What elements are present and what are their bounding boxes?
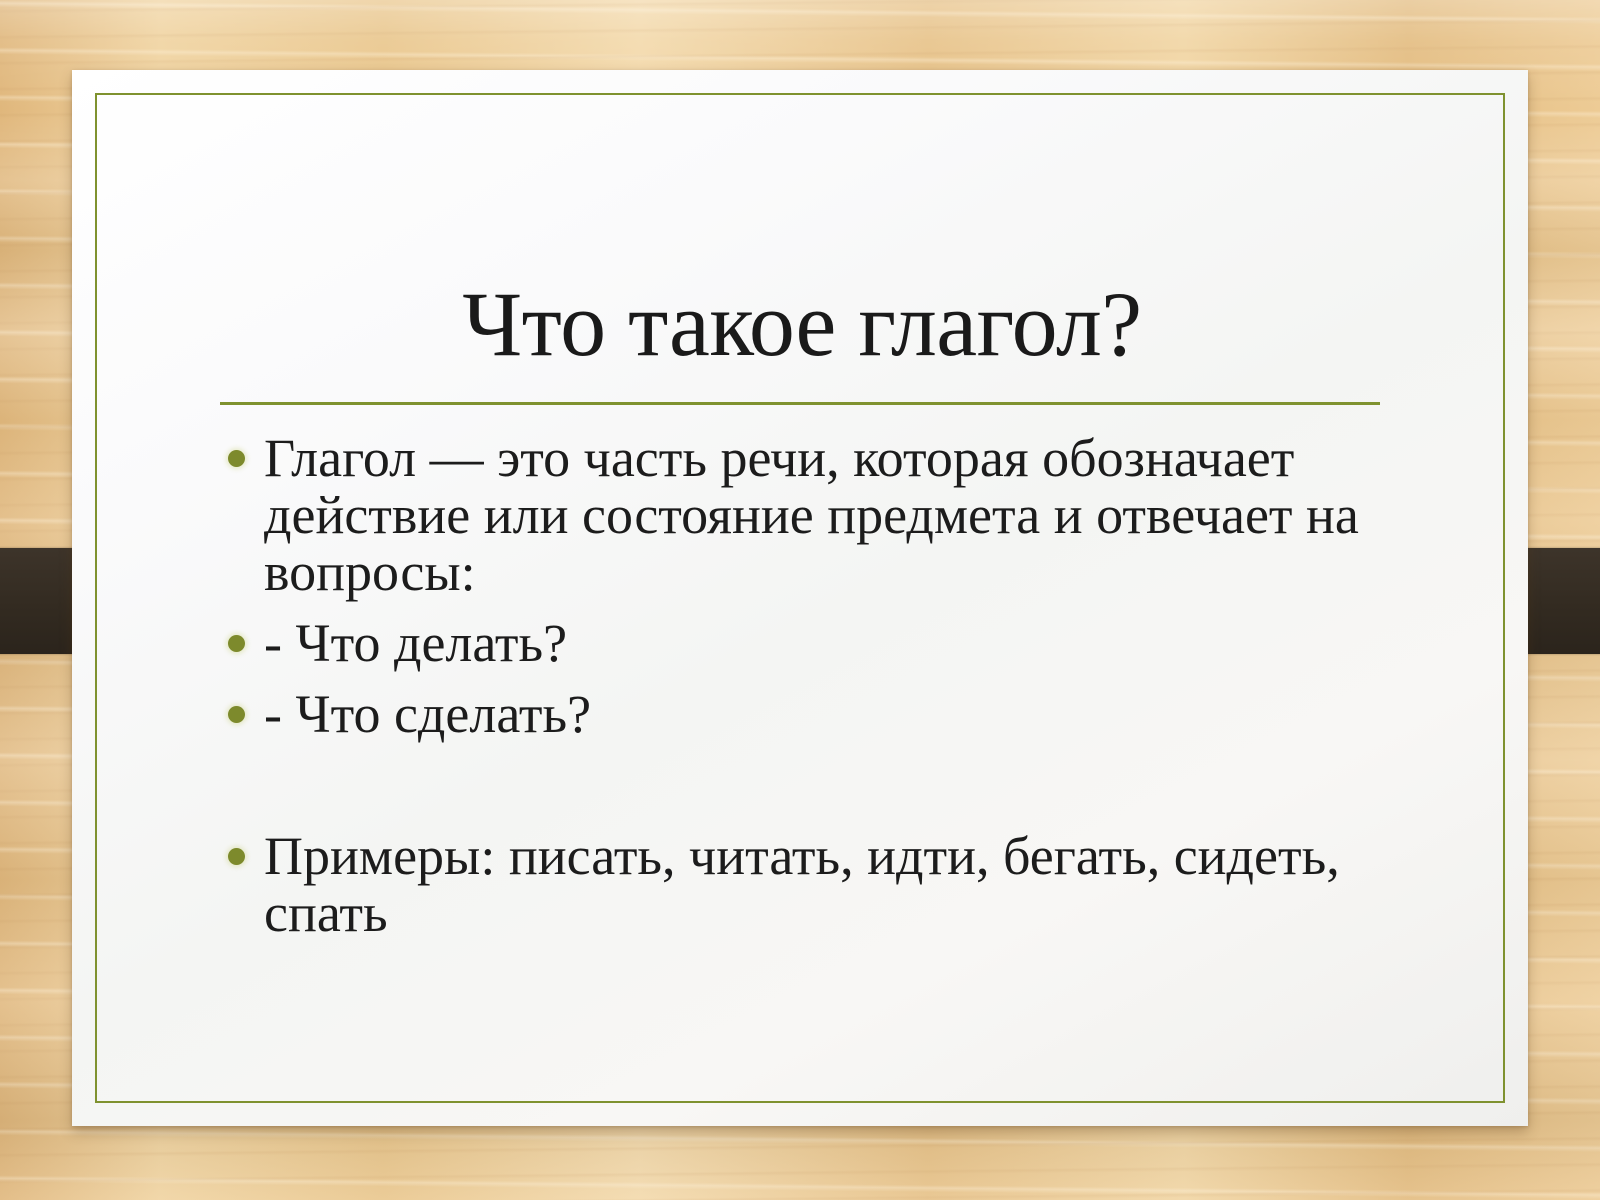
list-item-spacer — [212, 757, 1452, 814]
slide-content: Что такое глагол? Глагол — это часть реч… — [72, 70, 1528, 1126]
page-title: Что такое глагол? — [152, 278, 1452, 370]
list-item: Примеры: писать, читать, идти, бегать, с… — [212, 828, 1452, 942]
list-item-label: - Что сделать? — [264, 684, 591, 744]
list-item-label: Примеры: писать, читать, идти, бегать, с… — [264, 826, 1340, 943]
bullet-dot-icon — [228, 848, 245, 865]
bullet-list: Глагол — это часть речи, которая обознач… — [212, 430, 1452, 956]
list-item: - Что делать? — [212, 615, 1452, 672]
bullet-dot-icon — [228, 706, 245, 723]
bullet-dot-icon — [228, 635, 245, 652]
list-item: - Что сделать? — [212, 686, 1452, 743]
slide-background: Что такое глагол? Глагол — это часть реч… — [0, 0, 1600, 1200]
list-item-label: Глагол — это часть речи, которая обознач… — [264, 428, 1359, 602]
title-divider — [220, 402, 1380, 405]
bullet-dot-icon — [228, 450, 245, 467]
slide-card: Что такое глагол? Глагол — это часть реч… — [72, 70, 1528, 1126]
list-item-label: - Что делать? — [264, 613, 567, 673]
list-item: Глагол — это часть речи, которая обознач… — [212, 430, 1452, 601]
